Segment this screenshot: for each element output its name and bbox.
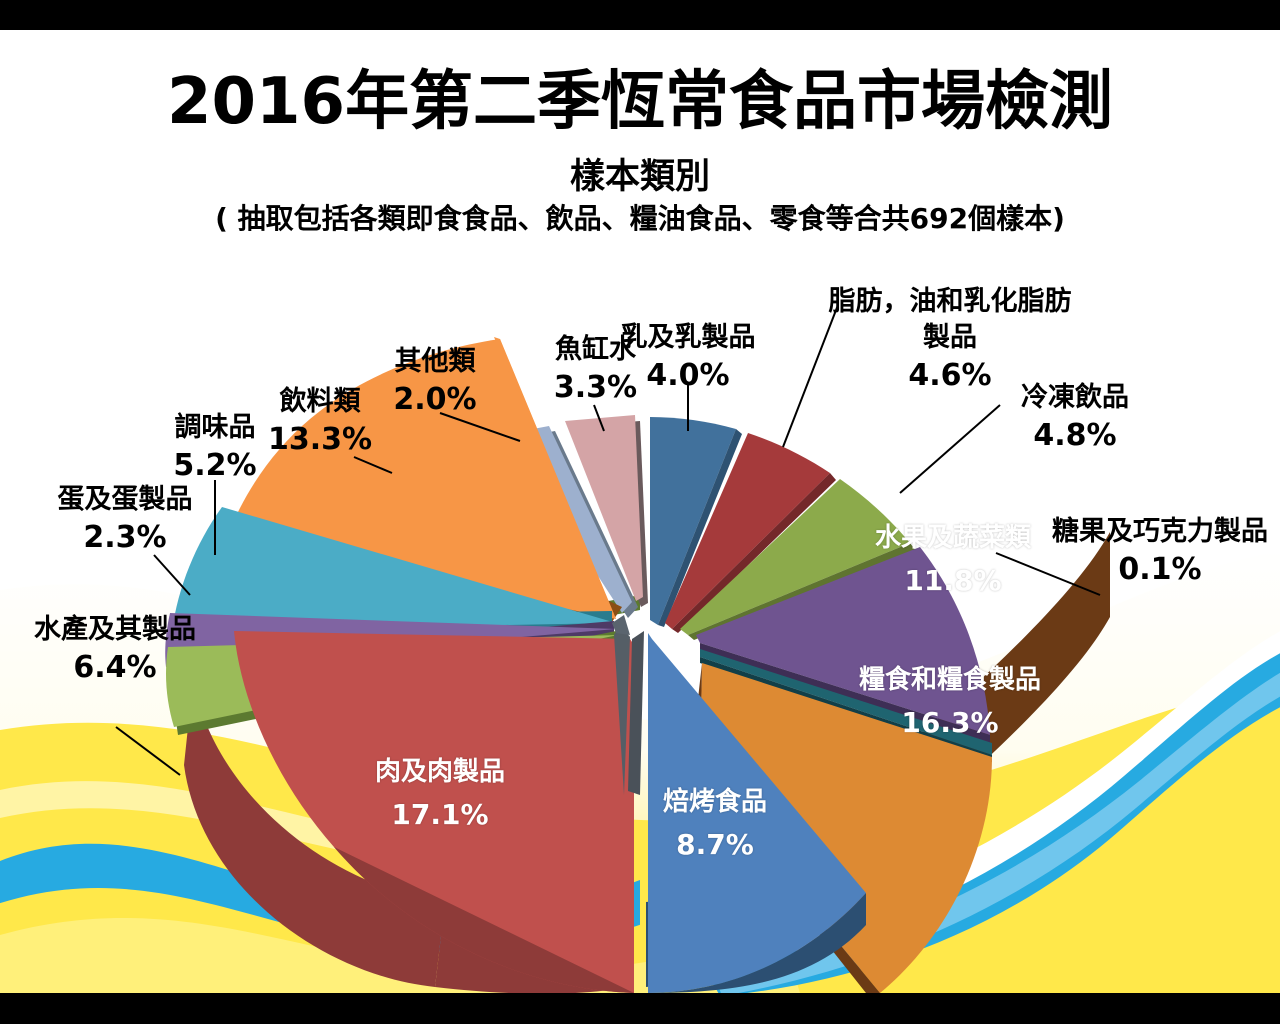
callout-name-aquatic: 水產及其製品 <box>0 615 230 645</box>
inside-label-meat: 肉及肉製品 17.1% <box>310 757 570 832</box>
pie-chart: 乳及乳製品 4.0% 脂肪，油和乳化脂肪 製品 4.6% 冷凍飲品 4.8% 糖… <box>0 235 1280 993</box>
callout-label-egg: 蛋及蛋製品 2.3% <box>10 485 240 555</box>
inside-label-fruitveg: 水果及蔬菜類 11.8% <box>828 523 1078 598</box>
callout-name-frozen: 冷凍飲品 <box>965 383 1185 413</box>
page-annotation: ( 抽取包括各類即食食品、飲品、糧油食品、零食等合共692個樣本) <box>0 205 1280 233</box>
inside-value-bakery: 8.7% <box>605 828 825 862</box>
callout-value-egg: 2.3% <box>10 521 240 555</box>
callout-value-seasoning: 5.2% <box>110 449 320 483</box>
callout-name-seasoning: 調味品 <box>110 413 320 443</box>
inside-value-meat: 17.1% <box>310 798 570 832</box>
page-subtitle: 樣本類別 <box>0 160 1280 195</box>
callout-value-frozen: 4.8% <box>965 419 1185 453</box>
inside-label-bakery: 焙烤食品 8.7% <box>605 787 825 862</box>
callout-label-seasoning: 調味品 5.2% <box>110 413 320 483</box>
callout-name-egg: 蛋及蛋製品 <box>10 485 240 515</box>
inside-value-fruitveg: 11.8% <box>828 564 1078 598</box>
inside-name-bakery: 焙烤食品 <box>605 787 825 818</box>
slide-canvas: 2016年第二季恆常食品市場檢測 樣本類別 ( 抽取包括各類即食食品、飲品、糧油… <box>0 30 1280 993</box>
inside-value-grain: 16.3% <box>810 706 1090 740</box>
callout-label-frozen: 冷凍飲品 4.8% <box>965 383 1185 453</box>
callout-label-aquatic: 水產及其製品 6.4% <box>0 615 230 685</box>
callout-name-fat-line2: 製品 <box>800 323 1100 353</box>
inside-label-grain: 糧食和糧食製品 16.3% <box>810 665 1090 740</box>
callout-label-fat: 脂肪，油和乳化脂肪 製品 4.6% <box>800 287 1100 393</box>
callout-value-aquatic: 6.4% <box>0 651 230 685</box>
inside-name-meat: 肉及肉製品 <box>310 757 570 788</box>
inside-name-fruitveg: 水果及蔬菜類 <box>828 523 1078 554</box>
inside-name-grain: 糧食和糧食製品 <box>810 665 1090 696</box>
page-title: 2016年第二季恆常食品市場檢測 <box>0 70 1280 134</box>
slide-stage: 2016年第二季恆常食品市場檢測 樣本類別 ( 抽取包括各類即食食品、飲品、糧油… <box>0 0 1280 1024</box>
callout-name-other: 其他類 <box>340 347 530 377</box>
callout-name-fat-line1: 脂肪，油和乳化脂肪 <box>800 287 1100 317</box>
